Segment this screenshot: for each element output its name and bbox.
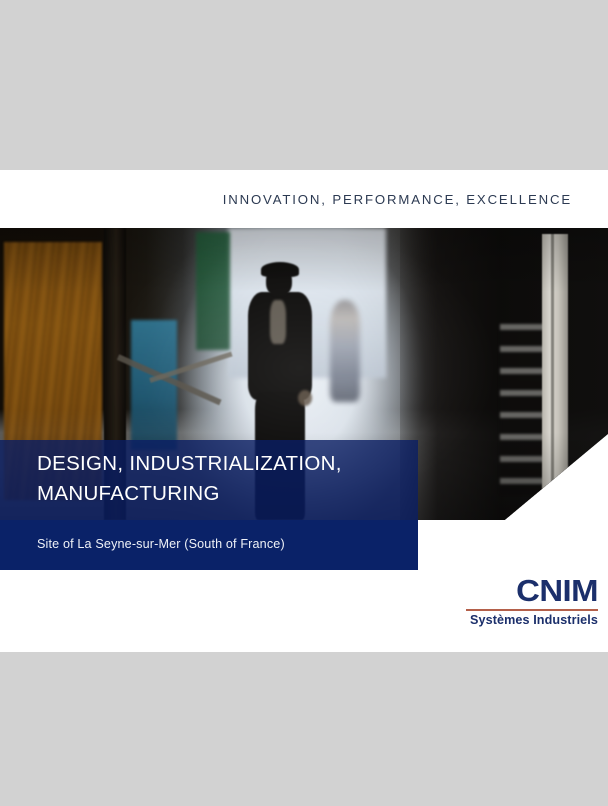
brochure-cover-page: INNOVATION, PERFORMANCE, EXCELLENCE	[0, 170, 608, 652]
cover-title-line-2: MANUFACTURING	[37, 482, 220, 505]
worker-cap	[261, 262, 299, 277]
brand-tagline: INNOVATION, PERFORMANCE, EXCELLENCE	[223, 192, 572, 207]
logo-divider-rule	[466, 609, 598, 611]
hero-photo-background-figure	[330, 300, 360, 402]
hero-photo-storage-racks	[500, 324, 544, 494]
worker-hand	[298, 390, 312, 406]
cover-title: DESIGN, INDUSTRIALIZATION, MANUFACTURING	[37, 449, 405, 509]
worker-shirt	[270, 300, 286, 344]
cnim-descriptor: Systèmes Industriels	[460, 613, 598, 628]
hero-photo-leaning-door-panel	[542, 234, 568, 520]
document-viewport: INNOVATION, PERFORMANCE, EXCELLENCE	[0, 0, 608, 806]
cnim-logo: CNIM Systèmes Industriels	[460, 575, 598, 628]
hero-photo-green-machinery	[196, 232, 230, 350]
cnim-wordmark: CNIM	[452, 575, 598, 606]
hero-photo-blue-container	[131, 320, 177, 450]
cover-title-line-1: DESIGN, INDUSTRIALIZATION,	[37, 452, 342, 475]
cover-subtitle: Site of La Seyne-sur-Mer (South of Franc…	[37, 537, 405, 551]
